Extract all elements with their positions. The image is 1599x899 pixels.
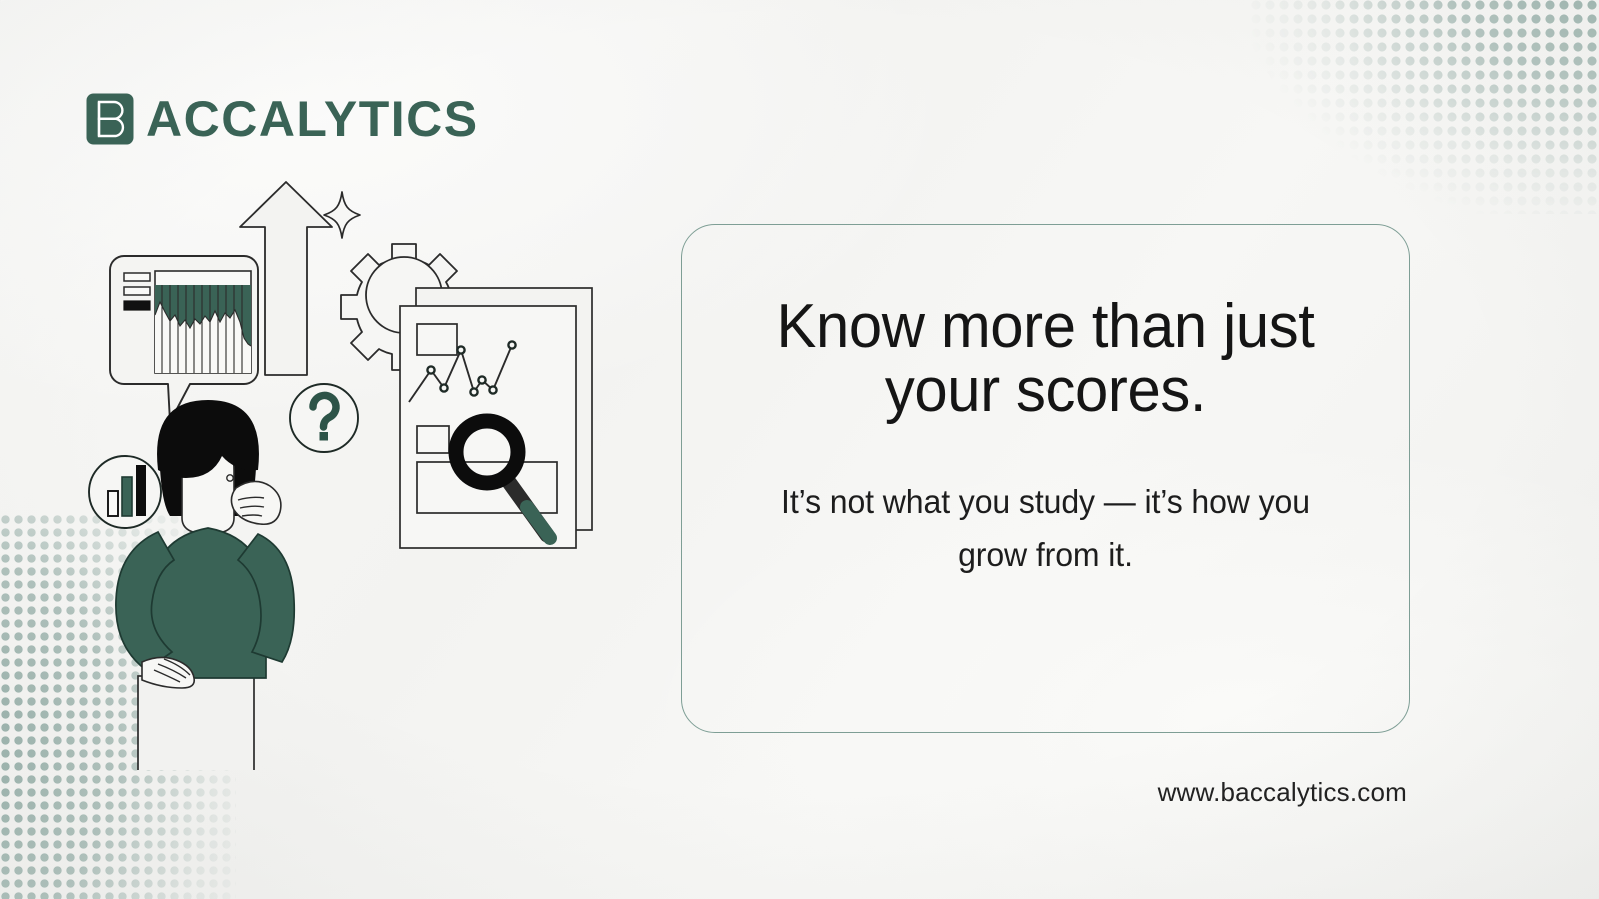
person-fringe [157,400,259,478]
badge-bar-3 [136,465,146,516]
banner-canvas: ACCALYTICS [0,0,1599,899]
dashboard-speech-bubble [110,256,258,422]
document-checkbox-bottom [417,426,449,453]
badge-bar-2 [122,477,132,516]
bar-chart-badge-icon [89,456,161,528]
hero-illustration [72,170,632,770]
message-card: Know more than just your scores. It’s no… [681,224,1410,733]
sparkle-icon [324,192,360,238]
area-chart [155,271,251,375]
thinking-person-illustration [116,400,294,770]
subline-text: It’s not what you study — it’s how you g… [749,475,1342,582]
logo-wordmark: ACCALYTICS [146,94,479,144]
legend-bar-1 [124,273,150,281]
logo-mark-b-icon [86,93,134,145]
brand-logo[interactable]: ACCALYTICS [86,93,479,145]
illustration-svg [72,170,632,770]
badge-bar-1 [108,491,118,516]
person-hand-chin [231,481,280,524]
headline-text: Know more than just your scores. [751,295,1341,423]
person-skirt [138,676,254,770]
document-checkbox-top [417,324,457,355]
legend-bar-3 [124,301,150,310]
legend-bar-2 [124,287,150,295]
person-ear [227,475,233,481]
website-url[interactable]: www.baccalytics.com [1158,777,1407,808]
halftone-dots-top-right-decoration [1249,0,1599,214]
question-mark-badge-icon [290,384,358,452]
